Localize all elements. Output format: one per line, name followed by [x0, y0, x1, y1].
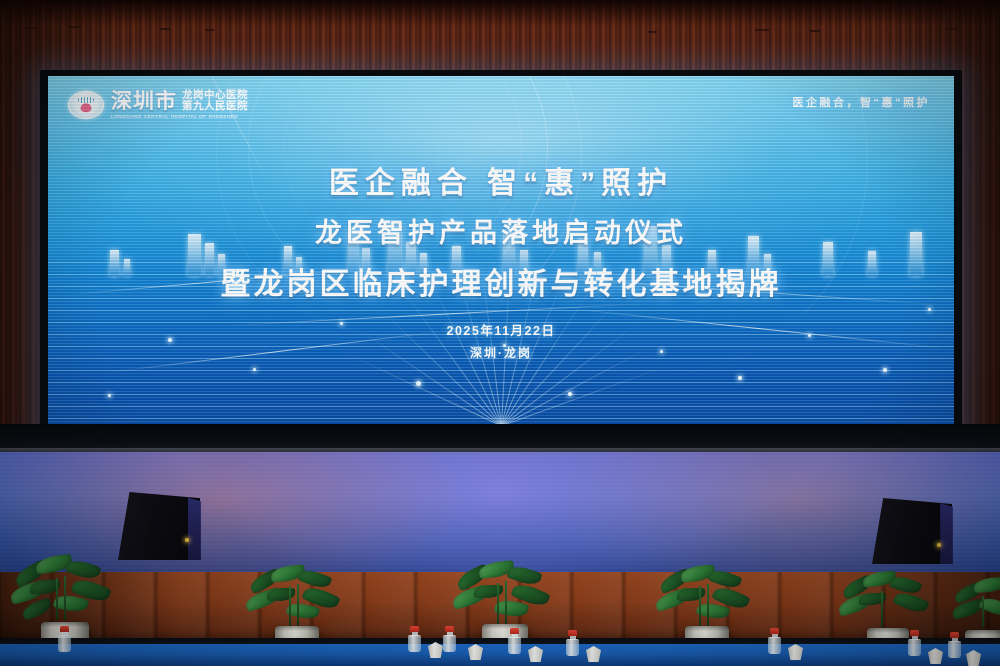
water-bottle	[768, 628, 781, 654]
water-bottle	[58, 626, 71, 652]
wall-vent-mark	[68, 26, 82, 28]
corner-slogan: 医企融合，智“惠”照护	[793, 94, 931, 110]
wall-vent-mark	[810, 30, 820, 32]
water-bottle	[908, 630, 921, 656]
event-title-block: 医企融合 智“惠”照护 龙医智护产品落地启动仪式 暨龙岗区临床护理创新与转化基地…	[48, 158, 954, 361]
logo-city-name: 深圳市	[111, 91, 177, 112]
water-bottle	[948, 632, 961, 658]
water-bottle	[508, 628, 521, 654]
title-line-2: 龙医智护产品落地启动仪式	[48, 211, 954, 250]
hospital-emblem-icon	[68, 91, 104, 119]
led-screen[interactable]: 深圳市 龙岗中心医院 第九人民医院 LONGGANG CENTRAL HOSPI…	[48, 76, 954, 426]
event-date: 2025年11月22日	[48, 320, 954, 339]
wall-vent-mark	[755, 29, 769, 31]
wall-vent-mark	[205, 29, 214, 31]
wall-vent-mark	[648, 31, 657, 33]
title-line-3: 暨龙岗区临床护理创新与转化基地揭牌	[48, 259, 954, 303]
foreground-table	[0, 644, 1000, 666]
logo-english-name: LONGGANG CENTRAL HOSPITAL OF SHENZHEN	[111, 114, 248, 119]
stage-monitor-left	[118, 492, 200, 560]
stage-scene: 深圳市 龙岗中心医院 第九人民医院 LONGGANG CENTRAL HOSPI…	[0, 0, 1000, 666]
wall-vent-mark	[160, 28, 170, 30]
water-bottle	[408, 626, 421, 652]
hospital-logo: 深圳市 龙岗中心医院 第九人民医院 LONGGANG CENTRAL HOSPI…	[68, 90, 248, 119]
ceiling-shadow	[0, 0, 1000, 26]
water-bottle	[443, 626, 456, 652]
wall-vent-mark	[945, 28, 958, 30]
water-bottle	[566, 630, 579, 656]
event-location: 深圳·龙岗	[48, 344, 954, 361]
stage-monitor-right	[872, 498, 952, 564]
title-line-1: 医企融合 智“惠”照护	[48, 158, 954, 202]
wall-vent-mark	[24, 27, 38, 29]
logo-hospital-name-2: 第九人民医院	[182, 101, 248, 112]
